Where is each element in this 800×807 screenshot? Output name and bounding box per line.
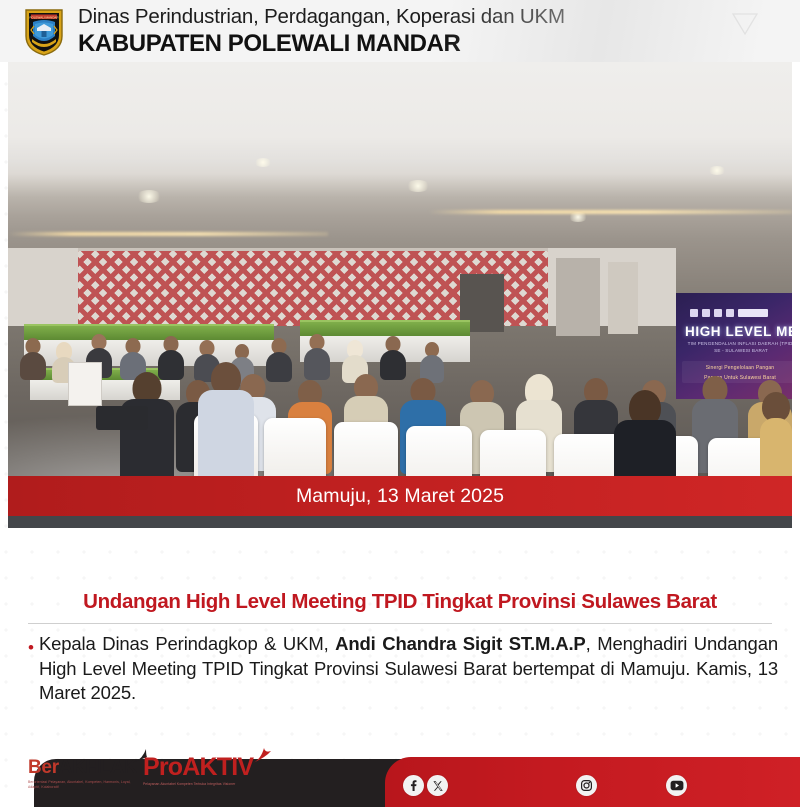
- proaktiv-wordmark: ProAKTIV: [143, 753, 258, 782]
- content-body-row: • Kepala Dinas Perindagkop & UKM, Andi C…: [28, 632, 778, 706]
- berakhlak-suffix: AKHLAK: [59, 757, 137, 778]
- x-twitter-icon[interactable]: [427, 775, 448, 796]
- side-panel: [556, 258, 600, 336]
- facebook-icon[interactable]: [403, 775, 424, 796]
- header-regency-name: KABUPATEN POLEWALI MANDAR: [78, 31, 565, 56]
- info-board: [68, 362, 102, 406]
- ceiling-light: [254, 158, 272, 167]
- body-person-name: Andi Chandra Sigit ST.M.A.P: [335, 633, 585, 654]
- attendee: [20, 338, 46, 378]
- berakhlak-logo: BerAKHLAK Berorientasi Pelayanan, Akunta…: [28, 757, 137, 790]
- photo-caption-bar: Mamuju, 13 Maret 2025: [8, 476, 792, 516]
- screen-subline-1: TIM PENGENDALIAN INFLASI DAERAH (TPID): [684, 341, 792, 346]
- content-divider: [28, 623, 772, 624]
- social-links-left[interactable]: [403, 775, 451, 796]
- svg-text:POLEWALI MANDAR: POLEWALI MANDAR: [29, 15, 59, 19]
- bird-swoosh-icon: [252, 743, 272, 761]
- social-links-instagram[interactable]: [576, 775, 600, 796]
- instagram-icon[interactable]: [576, 775, 597, 796]
- triangle-down-watermark-icon: [732, 12, 758, 36]
- berakhlak-wordmark: BerAKHLAK: [28, 757, 137, 779]
- youtube-icon[interactable]: [666, 775, 687, 796]
- social-links-youtube[interactable]: [666, 775, 690, 796]
- body-part-1: Kepala Dinas Perindagkop & UKM,: [39, 633, 335, 654]
- sponsor-logos: [690, 309, 768, 317]
- proaktiv-tagline: Pelayanan Akuntabel Kompeten Terbuka Int…: [143, 782, 258, 786]
- event-photo-image: HIGH LEVEL MEETING TIM PENGENDALIAN INFL…: [8, 62, 792, 528]
- attendee: [420, 342, 444, 380]
- ceiling-light: [136, 190, 162, 203]
- bullet-icon: •: [28, 639, 34, 656]
- photo-bottom-bar: [8, 516, 792, 528]
- attendee: [380, 336, 406, 378]
- rear-table: [24, 324, 274, 340]
- berakhlak-tagline: Berorientasi Pelayanan, Akuntabel, Kompe…: [28, 780, 133, 790]
- content-body-text: Kepala Dinas Perindagkop & UKM, Andi Cha…: [39, 632, 778, 706]
- header-office-name: Dinas Perindustrian, Perdagangan, Kopera…: [78, 6, 565, 28]
- header-titles: Dinas Perindustrian, Perdagangan, Kopera…: [78, 6, 565, 56]
- proaktiv-label: ProAKTIV: [143, 753, 253, 781]
- ceiling-light: [406, 180, 430, 192]
- content-title: Undangan High Level Meeting TPID Tingkat…: [0, 590, 800, 614]
- screen-headline: HIGH LEVEL MEETING: [685, 324, 792, 339]
- cove-light-strip: [428, 210, 792, 214]
- equipment-case: [96, 406, 148, 430]
- screen-subline-2: SE - SULAWESI BARAT: [684, 348, 792, 353]
- photo-caption-text: Mamuju, 13 Maret 2025: [296, 485, 504, 508]
- side-cabinet: [608, 262, 638, 334]
- rear-wall: [8, 248, 78, 326]
- attendee: [304, 334, 330, 378]
- event-photo: HIGH LEVEL MEETING TIM PENGENDALIAN INFL…: [8, 62, 792, 528]
- polewali-mandar-regency-crest-icon: POLEWALI MANDAR: [24, 6, 64, 56]
- berakhlak-prefix: Ber: [28, 757, 59, 778]
- page-header: POLEWALI MANDAR Dinas Perindustrian, Per…: [0, 0, 800, 62]
- cove-light-strip: [8, 232, 328, 236]
- proaktiv-logo: ProAKTIV Pelayanan Akuntabel Kompeten Te…: [143, 753, 258, 786]
- content-section: Undangan High Level Meeting TPID Tingkat…: [0, 528, 800, 743]
- attendee-foreground: [198, 362, 254, 492]
- screen-band-line-1: Sinergi Pengelolaan Pangan: [682, 365, 792, 371]
- ceiling-light: [708, 166, 726, 175]
